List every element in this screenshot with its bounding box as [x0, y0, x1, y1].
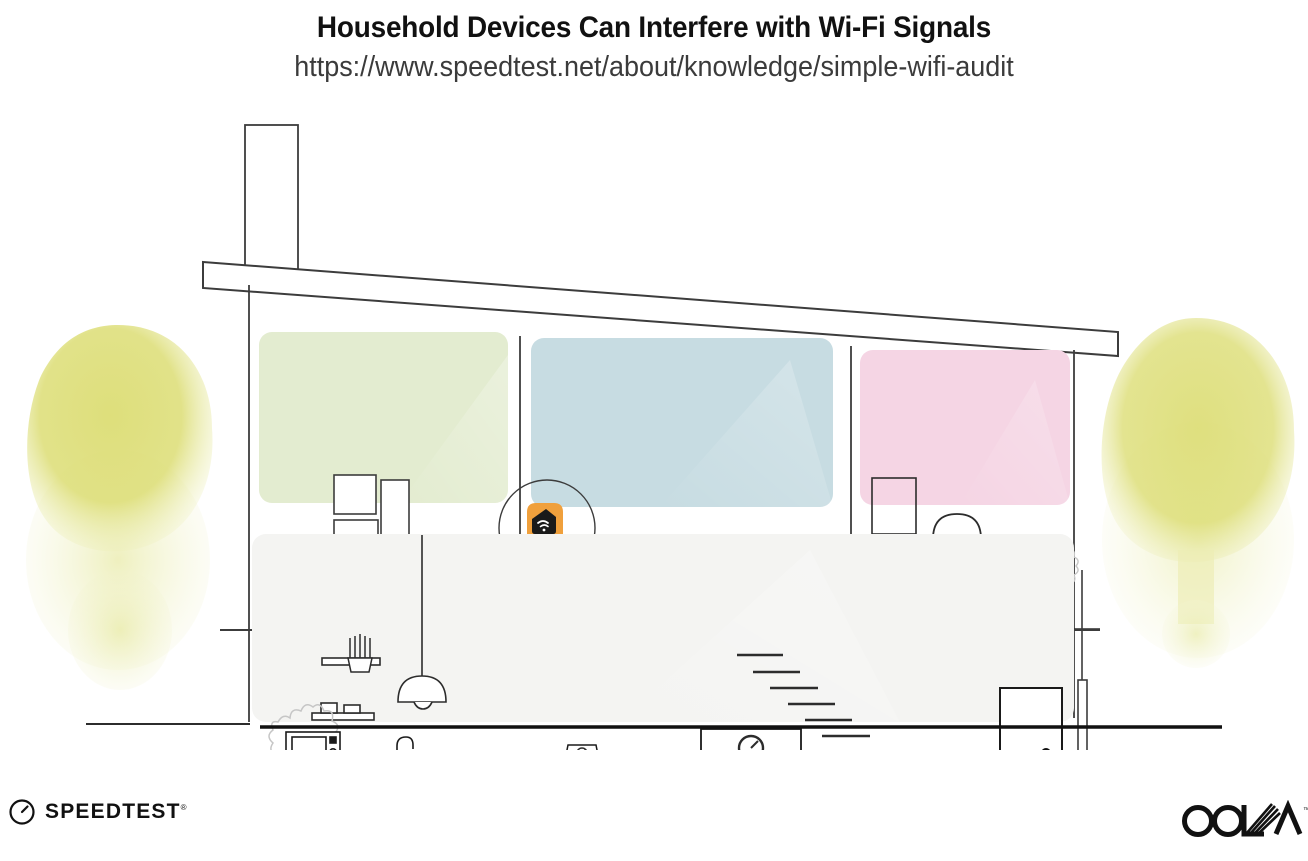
house-cutaway-illustration: SPEEDTEST	[0, 110, 1308, 750]
speedtest-wordmark: SPEEDTEST®	[45, 800, 188, 824]
source-url: https://www.speedtest.net/about/knowledg…	[46, 45, 1262, 84]
foliage-right	[1102, 318, 1295, 668]
speedtest-logo: SPEEDTEST®	[8, 798, 188, 826]
speedtest-trademark: ®	[181, 803, 188, 812]
front-door[interactable]	[1000, 688, 1062, 750]
chimney	[245, 125, 298, 285]
speedtest-wordmark-text: SPEEDTEST	[45, 800, 181, 823]
footer: SPEEDTEST® ™	[0, 780, 1308, 861]
infographic-root: Household Devices Can Interfere with Wi-…	[0, 0, 1308, 861]
laptop-speedtest: SPEEDTEST	[558, 745, 606, 750]
ookla-logo: ™	[1176, 800, 1308, 847]
microwave-icon	[286, 732, 340, 750]
ookla-trademark: ™	[1303, 807, 1308, 814]
ookla-logomark: ™	[1176, 800, 1308, 842]
sink-faucet	[397, 737, 413, 750]
downspout	[1078, 570, 1087, 750]
speedometer-icon	[8, 798, 36, 826]
page-title: Household Devices Can Interfere with Wi-…	[46, 0, 1262, 45]
tv-speedtest: SPEEDTEST	[701, 729, 801, 750]
foliage-left	[26, 325, 213, 690]
room-ground-floor: SPEEDTEST SPEEDTEST	[252, 534, 1074, 750]
header: Household Devices Can Interfere with Wi-…	[0, 0, 1308, 84]
